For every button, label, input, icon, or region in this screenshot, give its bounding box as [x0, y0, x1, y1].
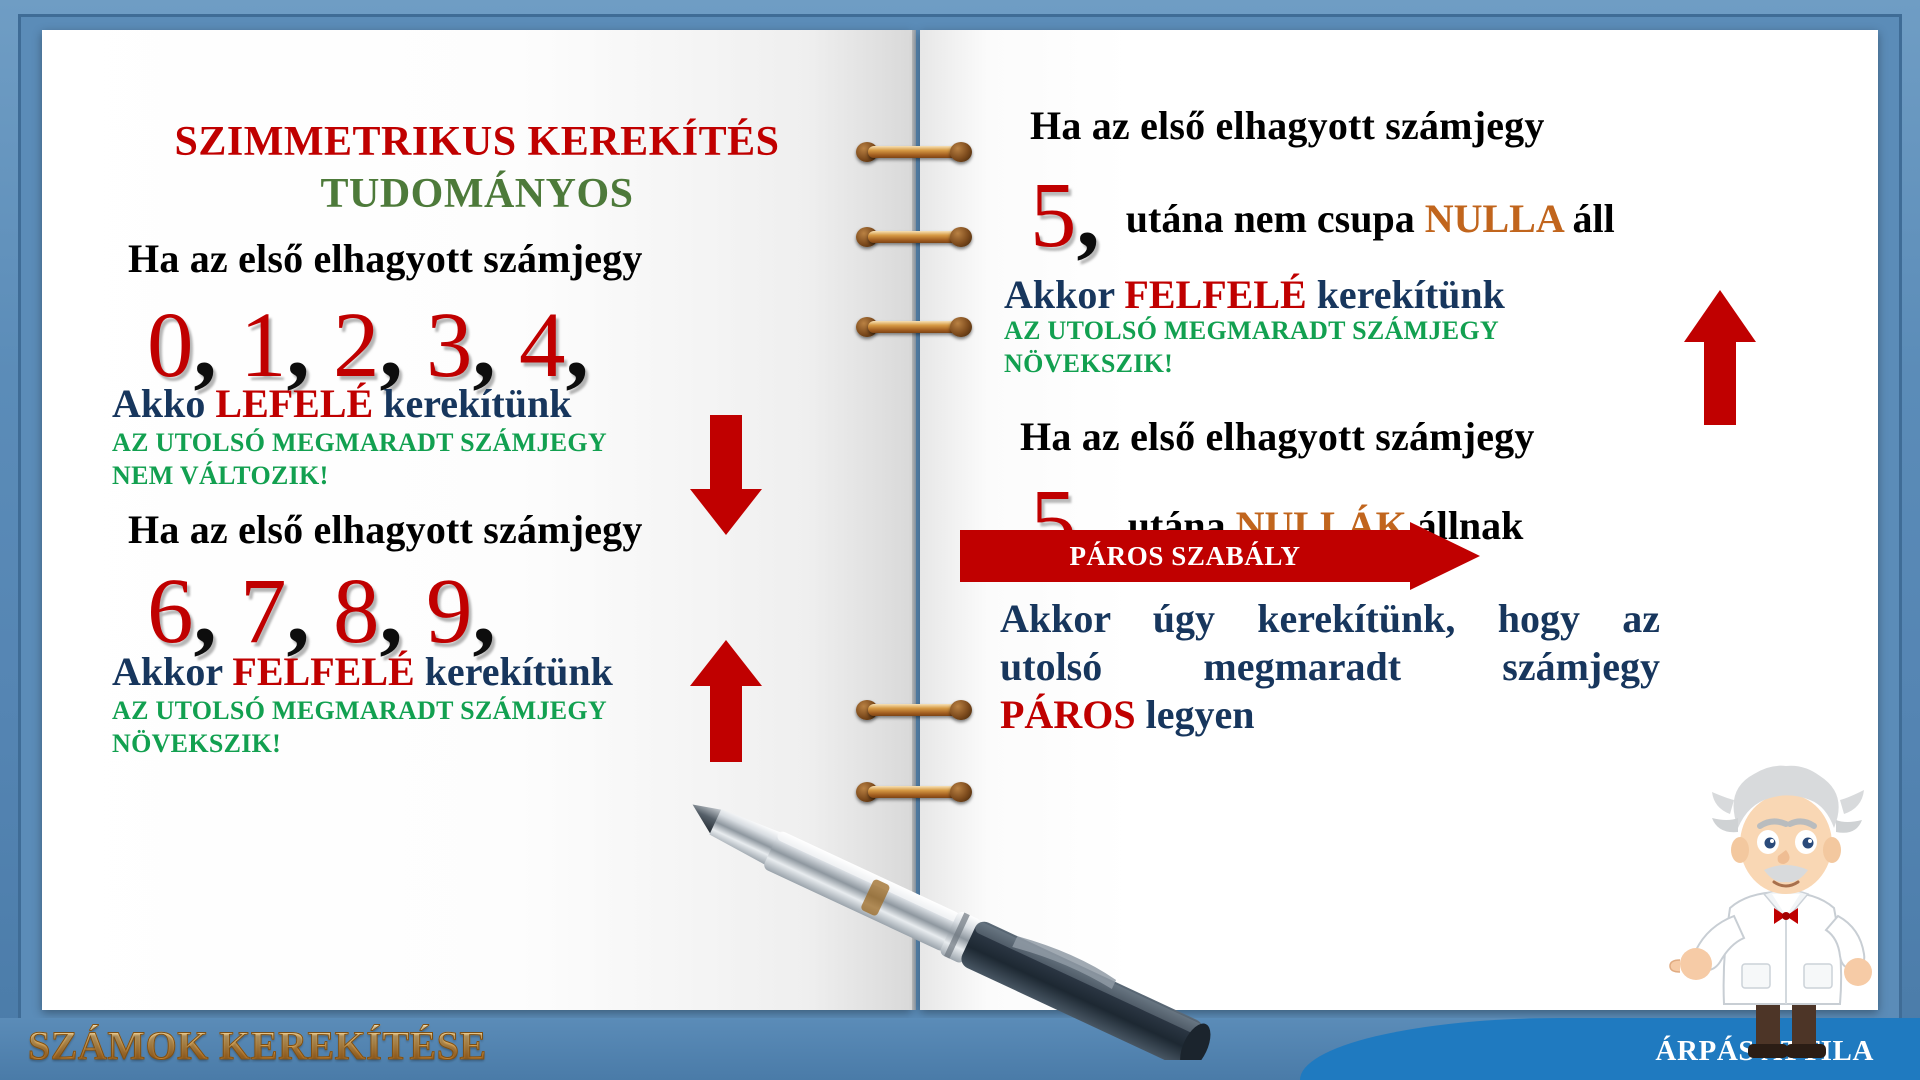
ring-bar	[868, 704, 960, 716]
arrow-tip	[1684, 290, 1756, 342]
arrow-down-icon	[690, 415, 762, 535]
right-note-1: AZ UTOLSÓ MEGMARADT SZÁMJEGY NÖVEKSZIK!	[1004, 314, 1499, 381]
paros-szabaly-banner: PÁROS SZABÁLY	[960, 530, 1480, 582]
left-note-1: AZ UTOLSÓ MEGMARADT SZÁMJEGY NEM VÁLTOZI…	[112, 426, 607, 493]
note-line: AZ UTOLSÓ MEGMARADT SZÁMJEGY	[112, 426, 607, 459]
ring-cap	[950, 700, 972, 720]
final-suffix: legyen	[1136, 692, 1255, 737]
binder-ring	[856, 315, 972, 339]
arrow-tip	[690, 489, 762, 535]
right-final-rule: Akkor úgy kerekítünk, hogy az utolsó meg…	[1000, 595, 1660, 739]
final-line: PÁROS legyen	[1000, 691, 1660, 739]
note-line: NÖVEKSZIK!	[1004, 347, 1499, 380]
ring-bar	[868, 786, 960, 798]
binder-ring	[856, 140, 972, 164]
right-condition-2: Ha az első elhagyott számjegy	[1020, 413, 1535, 460]
note-line: AZ UTOLSÓ MEGMARADT SZÁMJEGY	[1004, 314, 1499, 347]
left-rule-2: Akkor FELFELÉ kerekítünk	[112, 648, 613, 695]
arrow-up-right-icon	[1684, 290, 1756, 422]
left-rule-1: Akko LEFELÉ kerekítünk	[112, 380, 571, 427]
binder-ring	[856, 780, 972, 804]
digit: 5	[1030, 164, 1077, 267]
left-note-2: AZ UTOLSÓ MEGMARADT SZÁMJEGY NÖVEKSZIK!	[112, 694, 607, 761]
arrow-tip	[690, 640, 762, 686]
rule-highlight: LEFELÉ	[215, 381, 373, 426]
arrow-up-left-icon	[690, 640, 762, 760]
arrow-shaft	[710, 415, 742, 493]
digit-separator: ,	[1077, 164, 1100, 267]
final-line: utolsó megmaradt számjegy	[1000, 643, 1660, 691]
banner-label: PÁROS SZABÁLY	[960, 530, 1410, 582]
tail-before: utána nem csupa	[1126, 196, 1425, 241]
right-condition-1: Ha az első elhagyott számjegy	[1030, 102, 1545, 149]
right-rule-1: Akkor FELFELÉ kerekítünk	[1004, 271, 1505, 318]
arrow-shaft	[1704, 340, 1736, 425]
rule-highlight: FELFELÉ	[232, 649, 414, 694]
page-subtitle: TUDOMÁNYOS	[42, 170, 912, 218]
right-digit-line-1: 5, utána nem csupa NULLA áll	[1030, 178, 1615, 254]
right-tail-1: utána nem csupa NULLA áll	[1126, 195, 1615, 242]
final-line: Akkor úgy kerekítünk, hogy az	[1000, 595, 1660, 643]
ring-cap	[950, 142, 972, 162]
binder-ring	[856, 225, 972, 249]
note-line: AZ UTOLSÓ MEGMARADT SZÁMJEGY	[112, 694, 607, 727]
page-title: SZIMMETRIKUS KEREKÍTÉS	[42, 118, 912, 166]
rule-highlight: FELFELÉ	[1124, 272, 1306, 317]
right-digit-1: 5,	[1030, 178, 1100, 254]
footer-subject-title: SZÁMOK KEREKÍTÉSE	[28, 1022, 487, 1069]
professor-mascot-icon	[1668, 758, 1898, 1058]
ring-cap	[950, 317, 972, 337]
rule-prefix: Akko	[112, 381, 215, 426]
rule-prefix: Akkor	[112, 649, 232, 694]
rule-prefix: Akkor	[1004, 272, 1124, 317]
rule-suffix: kerekítünk	[415, 649, 613, 694]
tail-highlight: NULLA	[1425, 196, 1563, 241]
banner-arrowhead-icon	[1410, 522, 1480, 590]
page-gutter-edge	[912, 30, 916, 1010]
arrow-shaft	[710, 684, 742, 762]
ring-bar	[868, 321, 960, 333]
rule-suffix: kerekítünk	[373, 381, 571, 426]
ring-cap	[950, 782, 972, 802]
rule-suffix: kerekítünk	[1307, 272, 1505, 317]
note-line: NEM VÁLTOZIK!	[112, 459, 607, 492]
ring-bar	[868, 146, 960, 158]
tail-after: áll	[1563, 196, 1615, 241]
notebook-page-left: SZIMMETRIKUS KEREKÍTÉS TUDOMÁNYOS Ha az …	[42, 30, 912, 1010]
left-condition-1: Ha az első elhagyott számjegy	[128, 235, 643, 282]
left-condition-2: Ha az első elhagyott számjegy	[128, 506, 643, 553]
final-highlight: PÁROS	[1000, 692, 1136, 737]
ring-cap	[950, 227, 972, 247]
footer-bar: SZÁMOK KEREKÍTÉSE ÁRPÁS ATTILA	[0, 1018, 1920, 1080]
binder-ring	[856, 698, 972, 722]
ring-bar	[868, 231, 960, 243]
note-line: NÖVEKSZIK!	[112, 727, 607, 760]
